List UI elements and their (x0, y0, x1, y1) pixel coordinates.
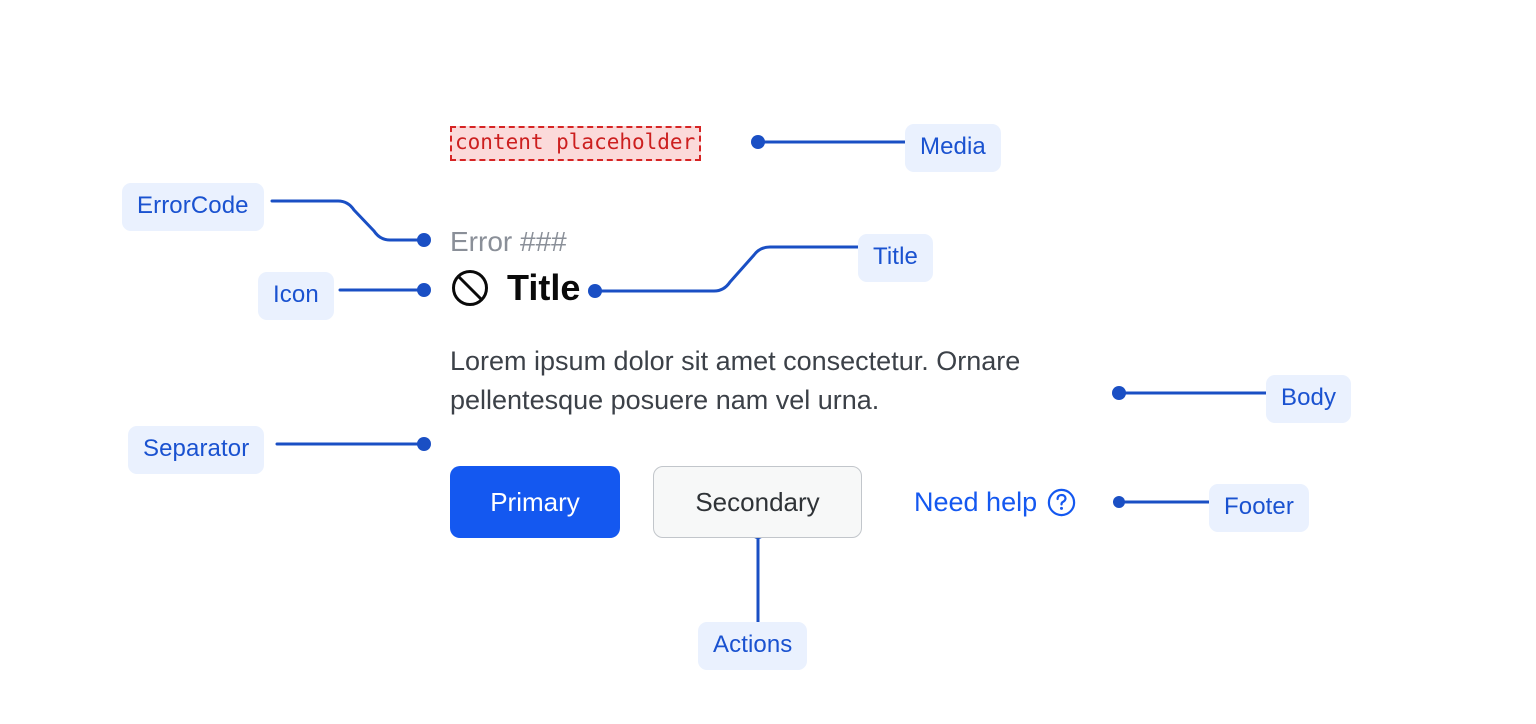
error-code-text: Error ### (450, 225, 567, 259)
title-text: Title (507, 270, 580, 306)
connector-dot-media (751, 135, 765, 149)
connector-dot-title (588, 284, 602, 298)
annotation-chip-icon[interactable]: Icon (258, 272, 334, 320)
annotation-chip-footer[interactable]: Footer (1209, 484, 1309, 532)
prohibition-icon (450, 268, 490, 308)
annotation-chip-media[interactable]: Media (905, 124, 1001, 172)
need-help-label: Need help (914, 489, 1037, 516)
connector-dot-errorcode (417, 233, 431, 247)
annotated-component-spec: content placeholder Error ### Title Lore… (0, 0, 1536, 724)
connector-dot-footer (1113, 496, 1125, 508)
annotation-chip-separator[interactable]: Separator (128, 426, 264, 474)
need-help-link[interactable]: Need help (914, 488, 1076, 517)
annotation-chip-title[interactable]: Title (858, 234, 933, 282)
annotation-chip-actions[interactable]: Actions (698, 622, 807, 670)
actions-row: Primary Secondary (450, 466, 862, 538)
primary-button[interactable]: Primary (450, 466, 620, 538)
connector-title (595, 247, 858, 291)
media-content-placeholder: content placeholder (450, 126, 701, 161)
connector-dot-separator (417, 437, 431, 451)
connector-dot-icon (417, 283, 431, 297)
body-text: Lorem ipsum dolor sit amet consectetur. … (450, 342, 1100, 421)
connector-dot-body (1112, 386, 1126, 400)
annotation-chip-errorcode[interactable]: ErrorCode (122, 183, 264, 231)
annotation-chip-body[interactable]: Body (1266, 375, 1351, 423)
question-circle-icon (1047, 488, 1076, 517)
connector-errorcode (272, 201, 424, 240)
title-row: Title (450, 268, 580, 308)
secondary-button[interactable]: Secondary (653, 466, 862, 538)
